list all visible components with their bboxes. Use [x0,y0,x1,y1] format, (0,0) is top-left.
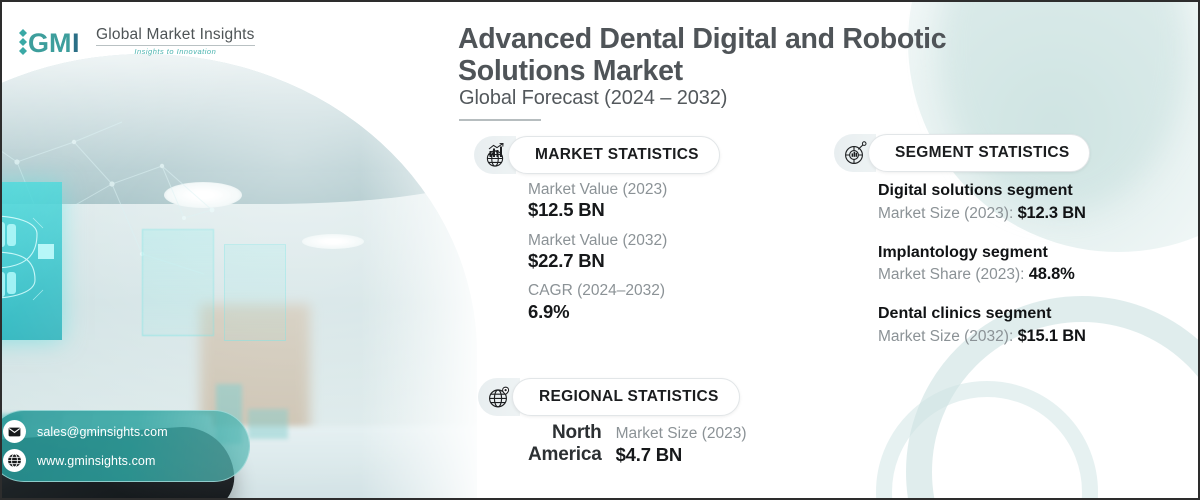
contact-website-row[interactable]: www.gminsights.com [3,449,249,472]
globe-bar-chart-glyph [482,142,508,168]
contact-website-text: www.gminsights.com [37,454,156,468]
market-statistics-list: Market Value (2023) $12.5 BN Market Valu… [528,180,667,332]
regional-statistics-header: REGIONAL STATISTICS [478,378,740,416]
contact-info-bar: sales@gminsights.com www.gminsights.com [2,410,250,482]
region-name: North America [528,422,602,467]
dental-jaw-scan-icon [2,198,47,324]
globe-icon [3,449,26,472]
segment-metric: Market Size (2023): $12.3 BN [878,202,1086,225]
market-stat-item: Market Value (2032) $22.7 BN [528,231,667,273]
infographic-canvas: sales@gminsights.com www.gminsights.com [0,0,1200,500]
holographic-side-panel [224,244,286,341]
title-divider [459,119,541,121]
gmi-logo[interactable]: GM I Global Market Insights Insights to … [14,24,255,58]
donut-chart-glyph [842,140,868,166]
gmi-company-name: Global Market Insights [96,27,255,43]
segment-metric-label: Market Size (2023): [878,205,1013,222]
globe-glyph [7,453,22,468]
page-subtitle: Global Forecast (2024 – 2032) [459,87,727,110]
market-stat-item: CAGR (2024–2032) 6.9% [528,281,667,323]
region-name-line1: North [528,422,602,444]
gmi-logo-divider [96,45,255,46]
market-statistics-pill: MARKET STATISTICS [508,136,720,174]
svg-text:GM: GM [28,28,72,58]
holo-highlight-block [38,244,54,259]
page-title: Advanced Dental Digital and Robotic Solu… [458,24,1038,88]
svg-text:I: I [72,28,80,58]
segment-statistics-header: SEGMENT STATISTICS [834,134,1090,172]
segment-metric: Market Size (2032): $15.1 BN [878,325,1086,348]
segment-metric: Market Share (2023): 48.8% [878,263,1086,286]
envelope-glyph [8,427,21,437]
market-stat-value: $12.5 BN [528,199,667,221]
segment-metric-value: $12.3 BN [1018,204,1086,222]
segment-name: Dental clinics segment [878,303,1086,325]
gmi-monogram-icon: GM I [14,24,88,58]
region-metric-value: $4.7 BN [616,443,747,466]
segment-metric-value: 48.8% [1029,265,1075,283]
dental-clinic-photo: sales@gminsights.com www.gminsights.com [2,2,480,500]
regional-statistics-content: North America Market Size (2023) $4.7 BN [528,422,747,467]
clinic-teal-accent [248,409,288,439]
envelope-icon [3,420,26,443]
contact-email-row[interactable]: sales@gminsights.com [3,420,249,443]
regional-statistics-label: REGIONAL STATISTICS [539,388,719,406]
gmi-logo-text: Global Market Insights Insights to Innov… [96,27,255,56]
gmi-logo-mark: GM I [14,24,88,58]
segment-stat-item: Digital solutions segment Market Size (2… [878,180,1086,225]
holographic-side-panel [142,229,214,336]
market-statistics-label: MARKET STATISTICS [535,146,699,164]
regional-statistics-pill: REGIONAL STATISTICS [512,378,740,416]
market-stat-label: Market Value (2023) [528,180,667,199]
segment-metric-value: $15.1 BN [1018,327,1086,345]
segment-name: Implantology segment [878,242,1086,264]
segment-stat-item: Dental clinics segment Market Size (2032… [878,303,1086,348]
region-metric-label: Market Size (2023) [616,424,747,443]
segment-metric-label: Market Size (2032): [878,328,1013,345]
segment-statistics-label: SEGMENT STATISTICS [895,144,1069,162]
holographic-dental-xray-screen [2,182,62,340]
market-stat-value: 6.9% [528,301,667,323]
ceiling-light [302,234,364,249]
segment-name: Digital solutions segment [878,180,1086,202]
content-area: Advanced Dental Digital and Robotic Solu… [458,2,1200,500]
contact-email-text: sales@gminsights.com [37,425,168,439]
segment-metric-label: Market Share (2023): [878,266,1024,283]
globe-pin-glyph [486,384,512,410]
market-stat-label: Market Value (2032) [528,231,667,250]
gmi-tagline: Insights to Innovation [96,48,255,56]
segment-stat-item: Implantology segment Market Share (2023)… [878,242,1086,287]
market-statistics-header: MARKET STATISTICS [474,136,720,174]
segment-statistics-pill: SEGMENT STATISTICS [868,134,1090,172]
market-stat-value: $22.7 BN [528,250,667,272]
region-metric: Market Size (2023) $4.7 BN [616,422,747,467]
market-stat-label: CAGR (2024–2032) [528,281,667,300]
region-name-line2: America [528,444,602,466]
market-stat-item: Market Value (2023) $12.5 BN [528,180,667,222]
segment-statistics-list: Digital solutions segment Market Size (2… [878,180,1086,365]
